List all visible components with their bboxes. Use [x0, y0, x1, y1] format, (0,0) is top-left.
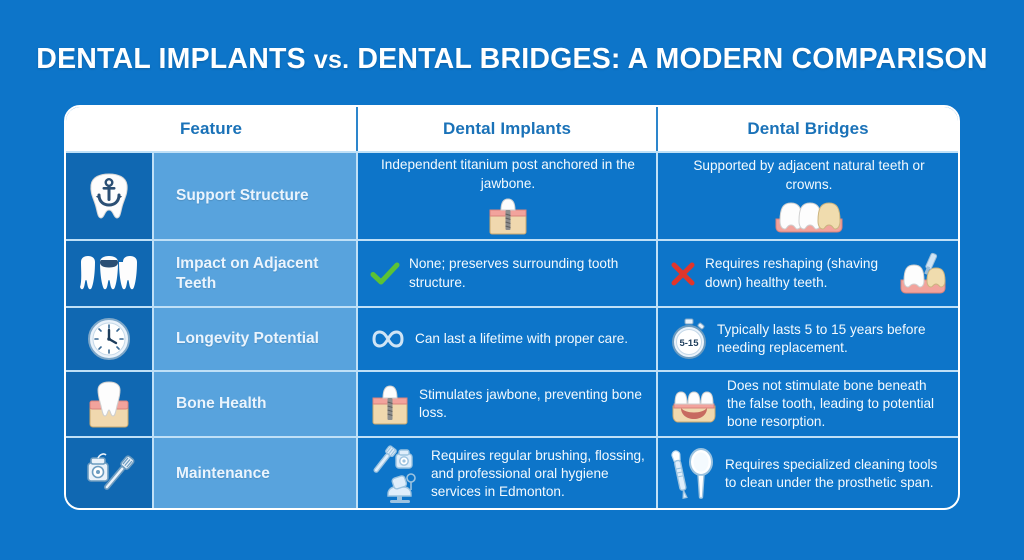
bridges-cell: 5-15 Typically lasts 5 to 15 years befor…: [658, 308, 958, 370]
bridges-text: Typically lasts 5 to 15 years before nee…: [717, 321, 948, 357]
three-teeth-icon: [78, 254, 140, 294]
page-title-part1: DENTAL IMPLANTS: [36, 43, 314, 75]
scaler-mirror-icon: [670, 446, 716, 502]
tooth-in-gum-icon: [87, 379, 131, 429]
page-title-vs: vs.: [314, 46, 349, 74]
implants-cell: Stimulates jawbone, preventing bone loss…: [358, 372, 658, 436]
table-row: Impact on Adjacent Teeth None; preserves…: [66, 239, 958, 306]
feature-label: Bone Health: [154, 372, 358, 436]
implants-cell: Independent titanium post anchored in th…: [358, 153, 658, 239]
table-body: Support Structure Independent titanium p…: [66, 151, 958, 510]
feature-label: Support Structure: [154, 153, 358, 239]
feature-icon-cell: [66, 438, 154, 510]
dental-implant-icon: [486, 196, 530, 236]
table-header-row: Feature Dental Implants Dental Bridges: [66, 107, 958, 151]
bridges-cell: Requires reshaping (shaving down) health…: [658, 241, 958, 306]
feature-icon-cell: [66, 241, 154, 306]
clock-icon: [87, 317, 131, 361]
bridges-cell: Supported by adjacent natural teeth or c…: [658, 153, 958, 239]
feature-label: Impact on Adjacent Teeth: [154, 241, 358, 306]
three-teeth-bridge-icon: [772, 197, 846, 235]
table-row: Bone Health: [66, 370, 958, 436]
page-title: DENTAL IMPLANTS vs. DENTAL BRIDGES: A MO…: [0, 43, 1024, 76]
bridges-cell: Requires specialized cleaning tools to c…: [658, 438, 958, 510]
brush-floss-chair-icon: [370, 444, 422, 504]
tooth-anchor-icon: [86, 170, 132, 222]
feature-icon-cell: [66, 372, 154, 436]
check-icon: [370, 261, 400, 287]
implants-text: Independent titanium post anchored in th…: [370, 156, 646, 192]
bridges-text: Does not stimulate bone beneath the fals…: [727, 377, 948, 431]
table-row: Longevity Potential Can last a lifetime …: [66, 306, 958, 370]
bridges-text: Supported by adjacent natural teeth or c…: [670, 157, 948, 193]
bridges-cell: Does not stimulate bone beneath the fals…: [658, 372, 958, 436]
comparison-table: Feature Dental Implants Dental Bridges: [64, 105, 960, 510]
floss-toothbrush-icon: [82, 447, 136, 501]
implants-cell: None; preserves surrounding tooth struct…: [358, 241, 658, 306]
implants-cell: Can last a lifetime with proper care.: [358, 308, 658, 370]
stopwatch-icon: 5-15: [670, 318, 708, 360]
bridge-bone-loss-icon: [670, 382, 718, 426]
feature-icon-cell: [66, 153, 154, 239]
column-header-dental-implants: Dental Implants: [358, 107, 658, 151]
feature-icon-cell: [66, 308, 154, 370]
bridges-text: Requires reshaping (shaving down) health…: [705, 255, 889, 291]
feature-label: Maintenance: [154, 438, 358, 510]
column-header-dental-bridges: Dental Bridges: [658, 107, 958, 151]
cross-icon: [670, 261, 696, 287]
implants-text: Can last a lifetime with proper care.: [415, 330, 646, 348]
table-row: Support Structure Independent titanium p…: [66, 151, 958, 239]
column-header-feature: Feature: [66, 107, 358, 151]
implants-text: Requires regular brushing, flossing, and…: [431, 447, 646, 501]
implants-text: Stimulates jawbone, preventing bone loss…: [419, 386, 646, 422]
table-row: Maintenance: [66, 436, 958, 510]
implants-cell: Requires regular brushing, flossing, and…: [358, 438, 658, 510]
page-title-part2: DENTAL BRIDGES: A MODERN COMPARISON: [349, 43, 987, 75]
implant-in-bone-icon: [370, 382, 410, 426]
stopwatch-label: 5-15: [679, 338, 699, 349]
feature-label: Longevity Potential: [154, 308, 358, 370]
infinity-icon: [370, 327, 406, 351]
implants-text: None; preserves surrounding tooth struct…: [409, 255, 646, 291]
bridges-text: Requires specialized cleaning tools to c…: [725, 456, 948, 492]
shaved-tooth-drill-icon: [898, 252, 948, 296]
